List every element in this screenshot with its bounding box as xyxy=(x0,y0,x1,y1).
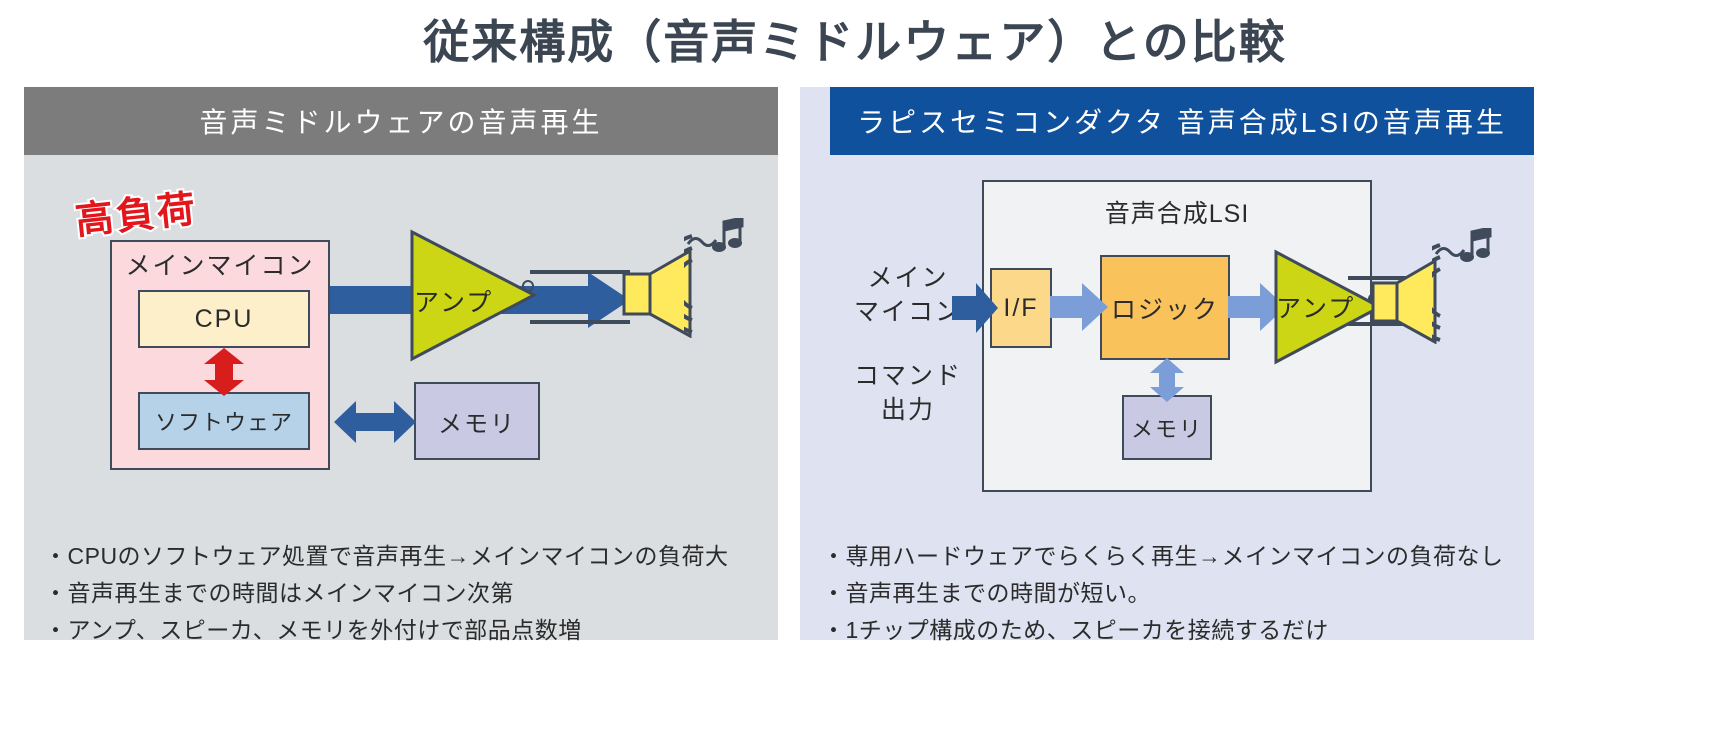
command-label-line1: コマンド xyxy=(846,360,970,394)
if-to-logic-arrow-icon xyxy=(1050,283,1108,331)
logic-memory-double-arrow-icon xyxy=(1146,358,1188,402)
cpu-box: CPU xyxy=(138,290,310,348)
voice-synthesis-lsi-label: 音声合成LSI xyxy=(982,194,1372,230)
memory-box-right: メモリ xyxy=(1122,395,1212,460)
mcu-label-line2: マイコン xyxy=(848,296,968,330)
main-microcontroller-label: メインマイコン xyxy=(110,246,330,282)
software-memory-double-arrow-icon xyxy=(334,396,416,448)
interface-box: I/F xyxy=(990,268,1052,348)
list-item: ・音声再生までの時間はメインマイコン次第 xyxy=(44,575,764,612)
slide-root: 従来構成（音声ミドルウェア）との比較 音声ミドルウェアの音声再生 メインマイコン… xyxy=(0,0,1710,743)
page-title: 従来構成（音声ミドルウェア）との比較 xyxy=(0,6,1710,72)
sound-waves-and-note-icon-right xyxy=(1432,228,1502,346)
mcu-to-if-arrow-icon xyxy=(952,283,998,333)
list-item: ・アンプ、スピーカ、メモリを外付けで部品点数増 xyxy=(44,612,764,649)
left-panel-bullets: ・CPUのソフトウェア処置で音声再生→メインマイコンの負荷大 ・音声再生までの時… xyxy=(44,538,764,648)
logic-box: ロジック xyxy=(1100,255,1230,360)
software-box: ソフトウェア xyxy=(138,392,310,450)
memory-box-left: メモリ xyxy=(414,382,540,460)
left-panel-header: 音声ミドルウェアの音声再生 xyxy=(24,87,778,155)
amplifier-label-left: アンプ xyxy=(414,283,493,319)
list-item: ・音声再生までの時間が短い。 xyxy=(822,575,1522,612)
list-item: ・CPUのソフトウェア処置で音声再生→メインマイコンの負荷大 xyxy=(44,538,764,575)
amplifier-label-right: アンプ xyxy=(1276,289,1355,325)
command-output-label: コマンド 出力 xyxy=(846,360,970,428)
amp-speaker-wires-left xyxy=(530,258,630,338)
mcu-label-line1: メイン xyxy=(848,262,968,296)
main-microcontroller-label-right: メイン マイコン xyxy=(848,262,968,330)
list-item: ・専用ハードウェアでらくらく再生→メインマイコンの負荷なし xyxy=(822,538,1522,575)
list-item: ・1チップ構成のため、スピーカを接続するだけ xyxy=(822,612,1522,649)
command-label-line2: 出力 xyxy=(846,394,970,428)
right-panel-bullets: ・専用ハードウェアでらくらく再生→メインマイコンの負荷なし ・音声再生までの時間… xyxy=(822,538,1522,648)
right-panel-header: ラピスセミコンダクタ 音声合成LSIの音声再生 xyxy=(830,87,1534,155)
sound-waves-and-note-icon-left xyxy=(684,218,754,338)
cpu-software-double-arrow-icon xyxy=(196,348,252,396)
